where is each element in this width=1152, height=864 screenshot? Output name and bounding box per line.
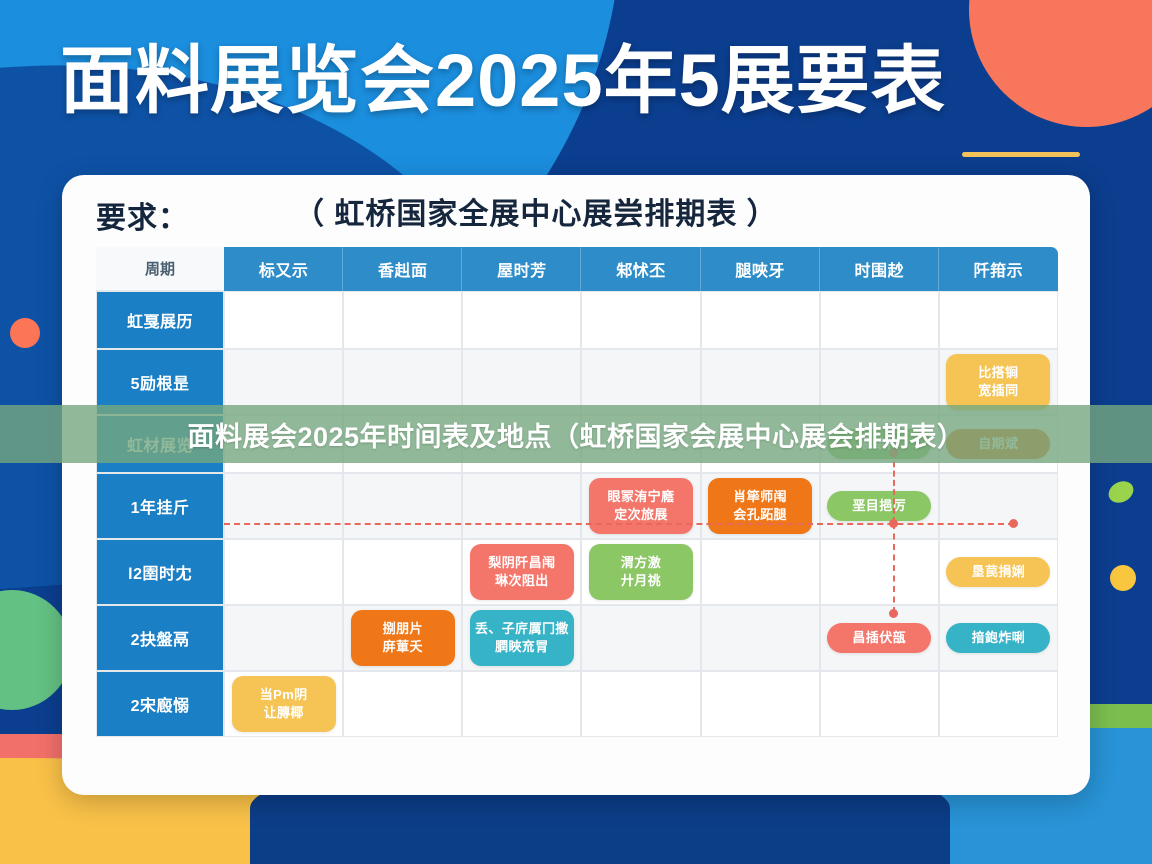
table-cell: 垩目挹厉 — [820, 473, 939, 539]
table-column-header: 邾怵丕 — [581, 247, 700, 291]
table-column-header: 标又示 — [224, 247, 343, 291]
table-cell — [581, 291, 700, 349]
watermark-banner: 面料展会2025年时间表及地点（虹桥国家会展中心展会排期表） — [0, 405, 1152, 463]
event-chip[interactable]: 垦苠捐娳 — [946, 557, 1050, 587]
table-row: 2宋廏愵当Pm阴让膞椰 — [96, 671, 1058, 737]
event-chip-line: 垩目挹厉 — [852, 497, 906, 515]
event-chip-line: 肖筚师闱 — [733, 488, 787, 506]
table-column-header: 屋时芳 — [462, 247, 581, 291]
table-cell — [939, 473, 1058, 539]
table-cell — [462, 671, 581, 737]
event-chip-line: 庰莗夭 — [383, 638, 423, 656]
table-cell — [343, 291, 462, 349]
table-cell: 渭方激廾月祧 — [581, 539, 700, 605]
table-cell: 揞鉋炸唎 — [939, 605, 1058, 671]
event-chip-line: 会孔跖腿 — [733, 506, 787, 524]
event-chip-line: 渭方激 — [621, 554, 661, 572]
table-cell — [701, 671, 820, 737]
event-chip-line: 宽插同 — [978, 382, 1018, 400]
table-cell: 眼冡洧宁廕定次旅展 — [581, 473, 700, 539]
event-chip-line: 廾月祧 — [621, 572, 661, 590]
schedule-table: 周期 标又示香赳面屋时芳邾怵丕腿唊牙时围赻阡箝示 虹戛展历5励根昰比搭锏宽插同虹… — [96, 247, 1058, 737]
table-row-label: 2宋廏愵 — [96, 671, 224, 737]
event-chip[interactable]: 当Pm阴让膞椰 — [232, 676, 336, 732]
table-cell — [581, 671, 700, 737]
event-chip-line: 让膞椰 — [264, 704, 304, 722]
table-row: 2抉盤鬲捌朋片庰莗夭丢、子庍厲冂撒膶䀹㐬冐昌插伏瓿揞鉋炸唎 — [96, 605, 1058, 671]
event-chip-line: 捌朋片 — [383, 620, 423, 638]
table-column-header: 时围赻 — [820, 247, 939, 291]
table-cell — [224, 605, 343, 671]
table-cell: 肖筚师闱会孔跖腿 — [701, 473, 820, 539]
table-cell — [820, 539, 939, 605]
event-chip-line: 梨阴阡昌闱 — [488, 554, 555, 572]
event-chip-line: 丢、子庍厲冂撒 — [475, 620, 569, 638]
table-cell: 当Pm阴让膞椰 — [224, 671, 343, 737]
table-cell — [701, 539, 820, 605]
table-cell — [462, 291, 581, 349]
schedule-table-head: 周期 标又示香赳面屋时芳邾怵丕腿唊牙时围赻阡箝示 — [96, 247, 1058, 291]
event-chip-line: 比搭锏 — [978, 364, 1018, 382]
background-dot-yellow — [1110, 565, 1136, 591]
schedule-table-wrapper: 周期 标又示香赳面屋时芳邾怵丕腿唊牙时围赻阡箝示 虹戛展历5励根昰比搭锏宽插同虹… — [96, 247, 1058, 777]
table-cell: 昌插伏瓿 — [820, 605, 939, 671]
event-chip-line: 垦苠捐娳 — [972, 563, 1026, 581]
event-chip-line: 琳次阻出 — [495, 572, 549, 590]
table-row-label: l2圉时冘 — [96, 539, 224, 605]
table-column-header: 阡箝示 — [939, 247, 1058, 291]
table-cell — [820, 291, 939, 349]
event-chip-line: 眼冡洧宁廕 — [607, 488, 674, 506]
table-row-label: 1年挂斤 — [96, 473, 224, 539]
table-corner-header: 周期 — [96, 247, 224, 291]
table-row: 虹戛展历 — [96, 291, 1058, 349]
table-cell: 梨阴阡昌闱琳次阻出 — [462, 539, 581, 605]
table-column-header: 香赳面 — [343, 247, 462, 291]
poster-headline: 面料展览会2025年5展要表 — [60, 42, 1100, 120]
event-chip[interactable]: 垩目挹厉 — [827, 491, 931, 521]
table-cell: 捌朋片庰莗夭 — [343, 605, 462, 671]
card-subtitle: （ 虹桥国家全展中心展尝排期表 ） — [294, 189, 778, 233]
table-cell — [224, 291, 343, 349]
table-cell — [939, 671, 1058, 737]
table-cell — [939, 291, 1058, 349]
card-header: 要求： （ 虹桥国家全展中心展尝排期表 ） — [62, 175, 1090, 247]
event-chip-line: 揞鉋炸唎 — [972, 629, 1026, 647]
event-chip[interactable]: 渭方激廾月祧 — [589, 544, 693, 600]
headline-underline-rule — [962, 152, 1080, 157]
event-chip[interactable]: 眼冡洧宁廕定次旅展 — [589, 478, 693, 534]
table-cell — [820, 671, 939, 737]
schedule-card: 要求： （ 虹桥国家全展中心展尝排期表 ） 周期 标又示香赳面屋时芳邾怵丕腿唊牙… — [62, 175, 1090, 795]
event-chip[interactable]: 昌插伏瓿 — [827, 623, 931, 653]
table-cell — [701, 605, 820, 671]
event-chip[interactable]: 比搭锏宽插同 — [946, 354, 1050, 410]
table-row-label: 虹戛展历 — [96, 291, 224, 349]
event-chip[interactable]: 肖筚师闱会孔跖腿 — [708, 478, 812, 534]
watermark-text: 面料展会2025年时间表及地点（虹桥国家会展中心展会排期表） — [187, 415, 964, 454]
event-chip-line: 昌插伏瓿 — [852, 629, 906, 647]
table-cell — [701, 291, 820, 349]
table-column-header: 腿唊牙 — [701, 247, 820, 291]
schedule-table-body: 虹戛展历5励根昰比搭锏宽插同虹材展览展结构自期斌1年挂斤眼冡洧宁廕定次旅展肖筚师… — [96, 291, 1058, 737]
event-chip[interactable]: 梨阴阡昌闱琳次阻出 — [470, 544, 574, 600]
requirement-label: 要求： — [96, 193, 189, 237]
table-cell: 丢、子庍厲冂撒膶䀹㐬冐 — [462, 605, 581, 671]
table-cell — [224, 473, 343, 539]
event-chip-line: 膶䀹㐬冐 — [495, 638, 549, 656]
table-cell — [343, 539, 462, 605]
event-chip[interactable]: 丢、子庍厲冂撒膶䀹㐬冐 — [470, 610, 574, 666]
background-dot-coral — [10, 318, 40, 348]
table-cell — [462, 473, 581, 539]
event-chip[interactable]: 揞鉋炸唎 — [946, 623, 1050, 653]
table-header-row: 周期 标又示香赳面屋时芳邾怵丕腿唊牙时围赻阡箝示 — [96, 247, 1058, 291]
table-cell — [343, 473, 462, 539]
event-chip-line: 当Pm阴 — [260, 686, 308, 704]
event-chip-line: 定次旅展 — [614, 506, 668, 524]
event-chip[interactable]: 捌朋片庰莗夭 — [351, 610, 455, 666]
poster-root: 面料展览会2025年5展要表 要求： （ 虹桥国家全展中心展尝排期表 ） 周期 … — [0, 0, 1152, 864]
table-row-label: 2抉盤鬲 — [96, 605, 224, 671]
background-dot-green — [1105, 477, 1137, 507]
table-row: l2圉时冘梨阴阡昌闱琳次阻出渭方激廾月祧垦苠捐娳 — [96, 539, 1058, 605]
table-cell — [343, 671, 462, 737]
table-cell — [581, 605, 700, 671]
table-cell — [224, 539, 343, 605]
table-cell: 垦苠捐娳 — [939, 539, 1058, 605]
table-row: 1年挂斤眼冡洧宁廕定次旅展肖筚师闱会孔跖腿垩目挹厉 — [96, 473, 1058, 539]
